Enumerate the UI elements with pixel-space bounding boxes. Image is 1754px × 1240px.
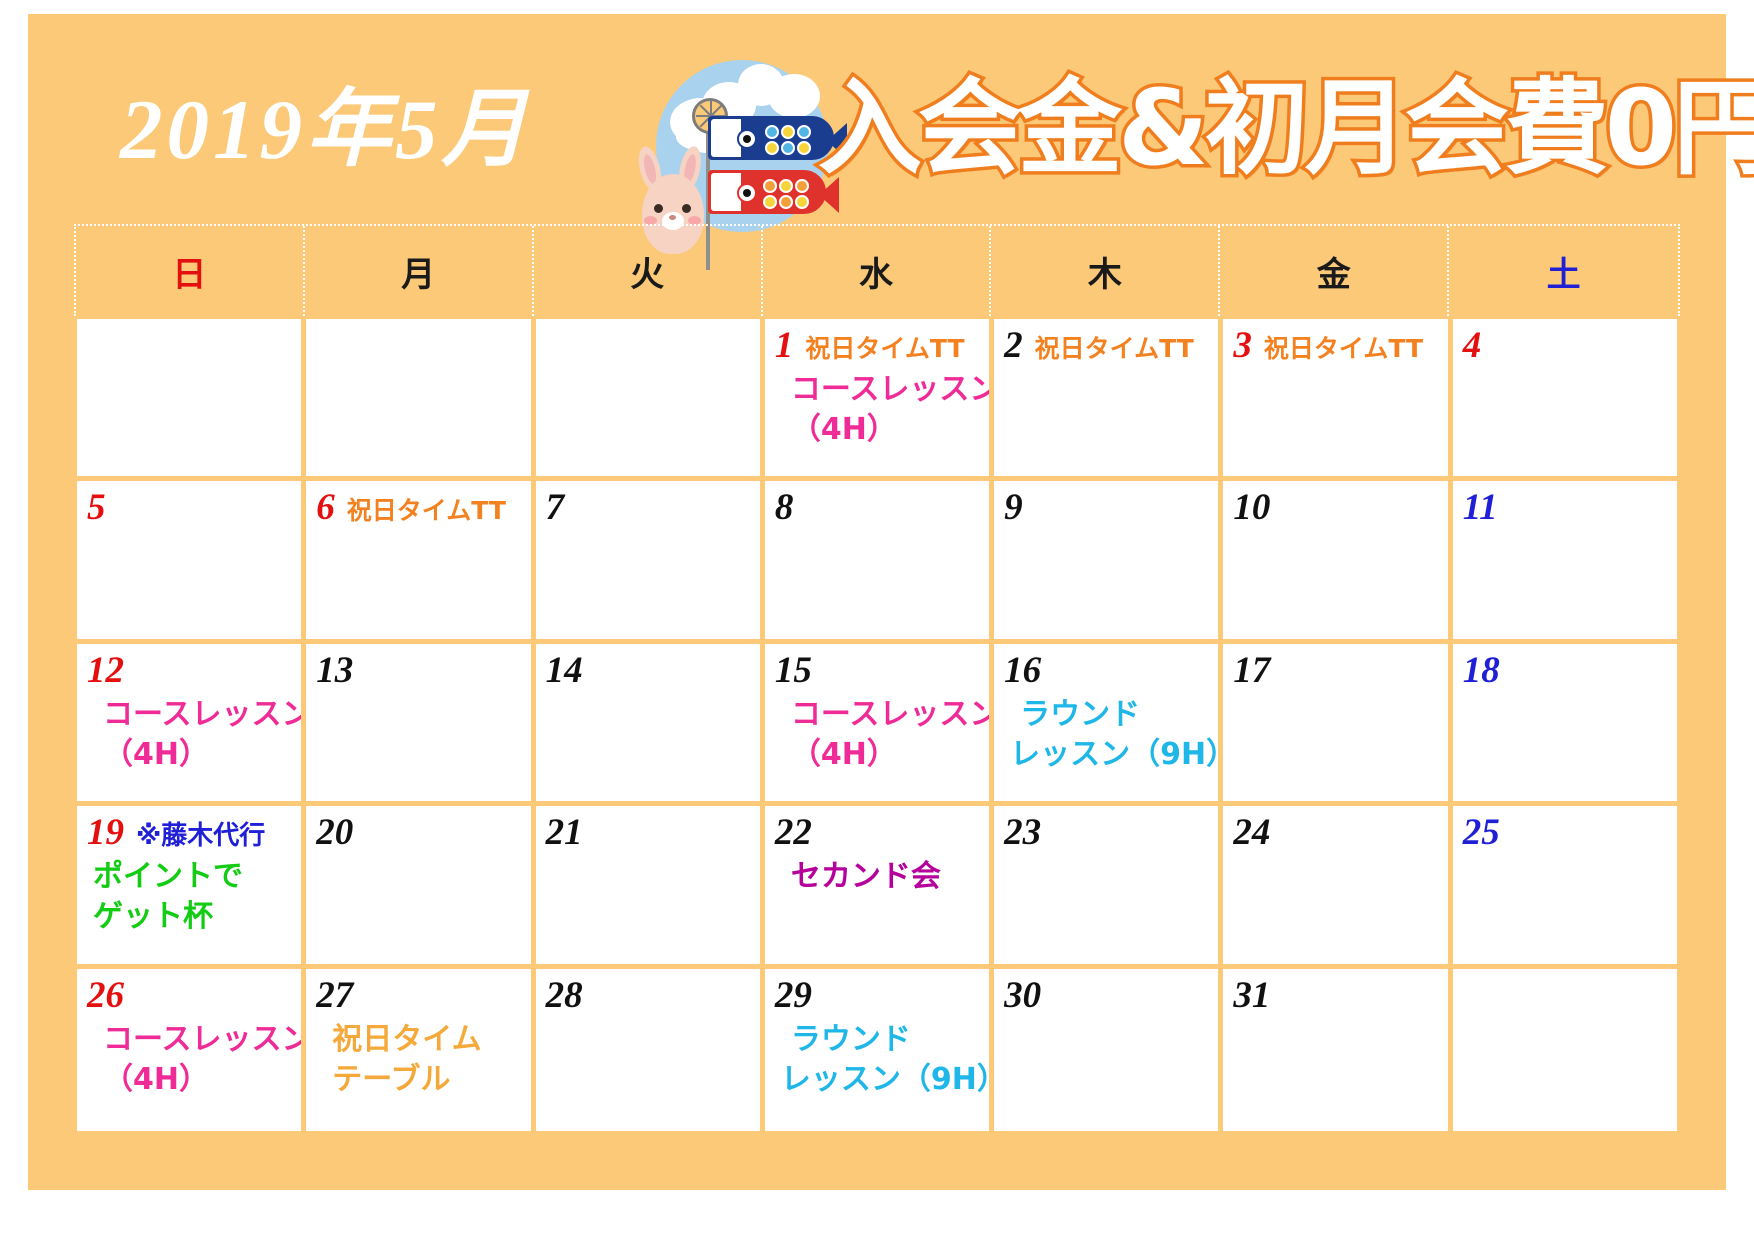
day-event-label: テーブル	[316, 1060, 520, 1100]
day-cell-20[interactable]: 20	[306, 806, 530, 963]
day-number: 21	[546, 813, 583, 853]
day-event-label: レッスン（9H）	[775, 1060, 979, 1100]
day-cell-header: 18	[1463, 651, 1667, 695]
day-cell-header: 8	[775, 488, 979, 532]
day-cell-header: 6祝日タイムTT	[316, 488, 520, 532]
day-cell-header: 20	[316, 813, 520, 857]
day-cell-empty[interactable]	[536, 319, 760, 476]
day-cell-11[interactable]: 11	[1453, 481, 1677, 638]
day-number: 31	[1233, 976, 1270, 1016]
calendar-grid: 日月火水木金土 1祝日タイムTTコースレッスン（4H）2祝日タイムTT3祝日タイ…	[74, 224, 1680, 1134]
day-event-label: コースレッスン	[87, 1020, 291, 1060]
day-cell-18[interactable]: 18	[1453, 644, 1677, 801]
day-cell-22[interactable]: 22セカンド会	[765, 806, 989, 963]
day-cell-16[interactable]: 16ラウンドレッスン（9H）	[994, 644, 1218, 801]
day-number: 6	[316, 488, 335, 528]
day-cell-header: 7	[546, 488, 750, 532]
day-cell-header: 14	[546, 651, 750, 695]
day-cell-28[interactable]: 28	[536, 969, 760, 1131]
day-event-label: （4H）	[87, 1060, 291, 1100]
day-cell-14[interactable]: 14	[536, 644, 760, 801]
day-cell-empty[interactable]	[1453, 969, 1677, 1131]
day-cell-4[interactable]: 4	[1453, 319, 1677, 476]
day-cell-31[interactable]: 31	[1223, 969, 1447, 1131]
day-number: 27	[316, 976, 353, 1016]
weekday-header-4: 木	[991, 226, 1220, 316]
day-cell-header	[87, 326, 291, 370]
day-cell-header: 17	[1233, 651, 1437, 695]
day-cell-header: 10	[1233, 488, 1437, 532]
day-cell-19[interactable]: 19※藤木代行ポイントでゲット杯	[77, 806, 301, 963]
day-number: 22	[775, 813, 812, 853]
day-number: 28	[546, 976, 583, 1016]
day-event-label: レッスン（9H）	[1004, 735, 1208, 775]
day-cell-header: 11	[1463, 488, 1667, 532]
day-number: 12	[87, 651, 124, 691]
day-event-label: コースレッスン	[775, 370, 979, 410]
day-cell-26[interactable]: 26コースレッスン（4H）	[77, 969, 301, 1131]
day-cell-13[interactable]: 13	[306, 644, 530, 801]
day-number: 16	[1004, 651, 1041, 691]
day-number: 29	[775, 976, 812, 1016]
weekday-header-5: 金	[1220, 226, 1449, 316]
day-event-label: 祝日タイム	[316, 1020, 520, 1060]
day-number: 25	[1463, 813, 1500, 853]
day-event-label: （4H）	[775, 410, 979, 450]
day-cell-30[interactable]: 30	[994, 969, 1218, 1131]
day-cell-header: 19※藤木代行	[87, 813, 291, 857]
day-number: 19	[87, 813, 124, 853]
day-number: 20	[316, 813, 353, 853]
day-cell-8[interactable]: 8	[765, 481, 989, 638]
weekday-header-2: 火	[534, 226, 763, 316]
weekday-header-row: 日月火水木金土	[74, 224, 1680, 316]
day-cell-header: 12	[87, 651, 291, 695]
carp-streamer-red-icon	[708, 170, 826, 214]
day-event-label: ラウンド	[1004, 695, 1208, 735]
day-cell-9[interactable]: 9	[994, 481, 1218, 638]
day-cell-header: 2祝日タイムTT	[1004, 326, 1208, 370]
weekday-header-1: 月	[305, 226, 534, 316]
day-cell-header: 28	[546, 976, 750, 1020]
day-tag-label: 祝日タイムTT	[1035, 331, 1194, 367]
day-cell-header: 22	[775, 813, 979, 857]
day-cell-23[interactable]: 23	[994, 806, 1218, 963]
day-cell-header: 30	[1004, 976, 1208, 1020]
day-number: 14	[546, 651, 583, 691]
day-cell-header: 4	[1463, 326, 1667, 370]
day-number: 24	[1233, 813, 1270, 853]
calendar-week-row: 26コースレッスン（4H）27祝日タイムテーブル2829ラウンドレッスン（9H）…	[77, 969, 1677, 1131]
day-number: 23	[1004, 813, 1041, 853]
day-cell-header: 15	[775, 651, 979, 695]
calendar-weeks: 1祝日タイムTTコースレッスン（4H）2祝日タイムTT3祝日タイムTT456祝日…	[74, 316, 1680, 1134]
day-cell-21[interactable]: 21	[536, 806, 760, 963]
day-number: 2	[1004, 326, 1023, 366]
calendar-week-row: 1祝日タイムTTコースレッスン（4H）2祝日タイムTT3祝日タイムTT4	[77, 319, 1677, 476]
day-cell-header: 13	[316, 651, 520, 695]
day-event-label: （4H）	[775, 735, 979, 775]
calendar-week-row: 12コースレッスン（4H）131415コースレッスン（4H）16ラウンドレッスン…	[77, 644, 1677, 801]
day-cell-header	[316, 326, 520, 370]
weekday-header-0: 日	[76, 226, 305, 316]
day-event-label: ラウンド	[775, 1020, 979, 1060]
cloud-icon	[768, 74, 820, 118]
day-number: 10	[1233, 488, 1270, 528]
calendar-poster-page: 2019年5月	[0, 0, 1754, 1240]
day-tag-label: 祝日タイムTT	[805, 331, 964, 367]
day-number: 9	[1004, 488, 1023, 528]
day-tag-label: 祝日タイムTT	[347, 493, 506, 529]
day-cell-header: 9	[1004, 488, 1208, 532]
day-cell-15[interactable]: 15コースレッスン（4H）	[765, 644, 989, 801]
weekday-header-3: 水	[763, 226, 992, 316]
day-cell-29[interactable]: 29ラウンドレッスン（9H）	[765, 969, 989, 1131]
page-title: 2019年5月	[120, 88, 531, 173]
day-cell-header: 26	[87, 976, 291, 1020]
day-number: 7	[546, 488, 565, 528]
poster-header: 2019年5月	[28, 14, 1726, 236]
day-cell-header	[546, 326, 750, 370]
day-cell-header	[1463, 976, 1667, 1020]
day-number: 8	[775, 488, 794, 528]
day-cell-25[interactable]: 25	[1453, 806, 1677, 963]
day-event-label: ポイントで	[87, 857, 291, 897]
day-cell-header: 21	[546, 813, 750, 857]
day-number: 15	[775, 651, 812, 691]
day-cell-header: 29	[775, 976, 979, 1020]
day-cell-17[interactable]: 17	[1223, 644, 1447, 801]
day-cell-header: 3祝日タイムTT	[1233, 326, 1437, 370]
day-cell-header: 27	[316, 976, 520, 1020]
day-tag-label: 祝日タイムTT	[1264, 331, 1423, 367]
day-cell-12[interactable]: 12コースレッスン（4H）	[77, 644, 301, 801]
day-cell-header: 5	[87, 488, 291, 532]
day-number: 4	[1463, 326, 1482, 366]
day-cell-1[interactable]: 1祝日タイムTTコースレッスン（4H）	[765, 319, 989, 476]
promo-banner-text: 入会金&初月会費0円☆	[818, 58, 1708, 198]
day-number: 26	[87, 976, 124, 1016]
day-number: 5	[87, 488, 106, 528]
day-cell-empty[interactable]	[306, 319, 530, 476]
day-cell-empty[interactable]	[77, 319, 301, 476]
carp-streamer-blue-icon	[708, 116, 834, 160]
poster-background: 2019年5月	[28, 14, 1726, 1190]
day-number: 13	[316, 651, 353, 691]
day-cell-27[interactable]: 27祝日タイムテーブル	[306, 969, 530, 1131]
day-event-label: セカンド会	[775, 857, 979, 897]
day-cell-header: 31	[1233, 976, 1437, 1020]
day-event-label: コースレッスン	[775, 695, 979, 735]
day-cell-header: 1祝日タイムTT	[775, 326, 979, 370]
day-number: 3	[1233, 326, 1252, 366]
calendar-week-row: 19※藤木代行ポイントでゲット杯202122セカンド会232425	[77, 806, 1677, 963]
day-number: 30	[1004, 976, 1041, 1016]
calendar-week-row: 56祝日タイムTT7891011	[77, 481, 1677, 638]
day-cell-header: 23	[1004, 813, 1208, 857]
day-number: 18	[1463, 651, 1500, 691]
weekday-header-6: 土	[1449, 226, 1678, 316]
day-cell-header: 25	[1463, 813, 1667, 857]
day-cell-6[interactable]: 6祝日タイムTT	[306, 481, 530, 638]
day-cell-10[interactable]: 10	[1223, 481, 1447, 638]
day-cell-5[interactable]: 5	[77, 481, 301, 638]
day-number: 11	[1463, 488, 1498, 528]
day-cell-3[interactable]: 3祝日タイムTT	[1223, 319, 1447, 476]
day-number: 1	[775, 326, 794, 366]
day-tag-label: ※藤木代行	[136, 818, 265, 854]
day-cell-header: 16	[1004, 651, 1208, 695]
day-event-label: （4H）	[87, 735, 291, 775]
day-event-label: ゲット杯	[87, 897, 291, 937]
day-cell-2[interactable]: 2祝日タイムTT	[994, 319, 1218, 476]
day-cell-7[interactable]: 7	[536, 481, 760, 638]
day-event-label: コースレッスン	[87, 695, 291, 735]
day-cell-24[interactable]: 24	[1223, 806, 1447, 963]
day-cell-header: 24	[1233, 813, 1437, 857]
day-number: 17	[1233, 651, 1270, 691]
